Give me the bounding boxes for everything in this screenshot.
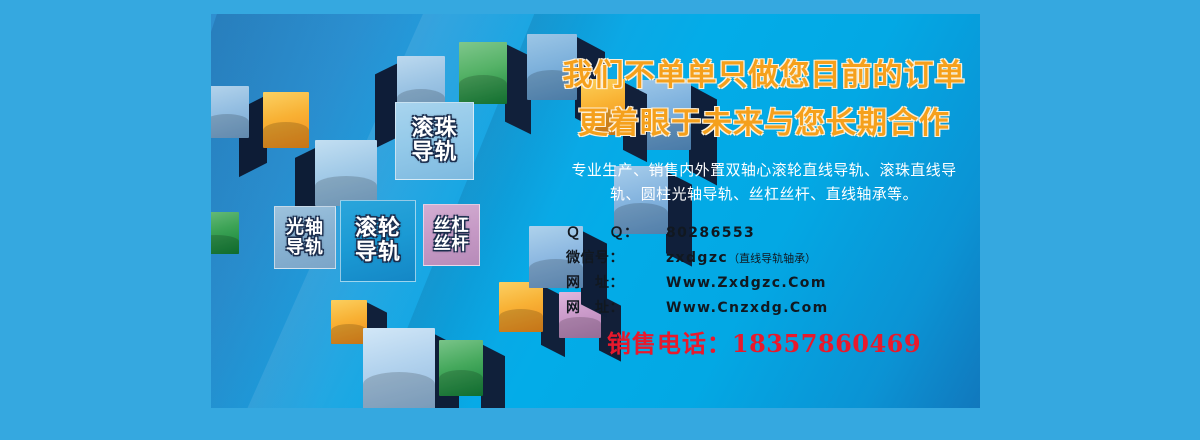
cube-blue-bottom-big [363, 328, 435, 408]
cube-face [459, 42, 507, 104]
cube-blue-center-mid [315, 140, 377, 206]
tile-line-2: 丝杆 [434, 235, 470, 253]
product-tile-gunzhu-daogui[interactable]: 滚珠 导轨 [395, 102, 474, 180]
cube-face [211, 86, 249, 138]
cube-orange-upper-left [263, 92, 309, 148]
cube-face [211, 212, 239, 254]
contact-row-website-2: 网 址： Www.Cnzxdg.Com [548, 297, 980, 317]
contact-value-qq[interactable]: 80286553 [666, 225, 755, 241]
cube-cluster-illustration: 滚珠 导轨 光轴 导轨 滚轮 导轨 丝杠 丝杆 [211, 14, 571, 408]
contact-label-website-1: 网 址： [548, 272, 666, 292]
product-description: 专业生产、销售内外置双轴心滚轮直线导轨、滚珠直线导轨、圆柱光轴导轨、丝杠丝杆、直… [559, 158, 969, 207]
contact-value-wechat[interactable]: zxdgzc [666, 250, 728, 266]
cube-face [499, 282, 543, 332]
contact-label-qq: Ｑ Ｑ： [548, 222, 666, 242]
cube-face [315, 140, 377, 206]
contact-label-wechat: 微信号： [548, 247, 666, 267]
cube-green-top [459, 42, 507, 104]
cube-side [481, 344, 505, 408]
page-root: 滚珠 导轨 光轴 导轨 滚轮 导轨 丝杠 丝杆 我们不单单只做您目前的订单 更着… [0, 0, 1200, 440]
tile-line-1: 滚珠 [411, 117, 457, 141]
sales-phone-line: 销售电话：18357860469 [548, 324, 980, 359]
contact-row-wechat: 微信号： zxdgzc （直线导轨轴承） [548, 247, 980, 267]
cube-green-bottom-right [439, 340, 483, 396]
cube-green-left-bottom [211, 212, 239, 254]
product-tile-gunlun-daogui[interactable]: 滚轮 导轨 [340, 200, 416, 282]
contact-row-qq: Ｑ Ｑ： 80286553 [548, 222, 980, 242]
cube-face [439, 340, 483, 396]
cube-blue-left-mid [211, 86, 249, 138]
tile-line-2: 导轨 [286, 238, 324, 257]
tile-line-2: 导轨 [355, 241, 401, 265]
contact-value-website-2[interactable]: Www.Cnzxdg.Com [666, 300, 829, 316]
cube-face [331, 300, 367, 344]
tile-line-1: 丝杠 [434, 217, 470, 235]
sales-phone-number[interactable]: 18357860469 [732, 329, 921, 358]
product-tile-sigang-sigan[interactable]: 丝杠 丝杆 [423, 204, 480, 266]
banner-copy-column: 我们不单单只做您目前的订单 更着眼于未来与您长期合作 专业生产、销售内外置双轴心… [548, 14, 980, 408]
headline-line-2: 更着眼于未来与您长期合作 [548, 98, 980, 142]
sales-phone-label: 销售电话： [607, 330, 732, 358]
cube-face [363, 328, 435, 408]
promo-banner: 滚珠 导轨 光轴 导轨 滚轮 导轨 丝杠 丝杆 我们不单单只做您目前的订单 更着… [211, 14, 980, 408]
tile-line-1: 滚轮 [355, 217, 401, 241]
contact-info-block: Ｑ Ｑ： 80286553 微信号： zxdgzc （直线导轨轴承） 网 址： … [548, 222, 980, 322]
headline-line-1: 我们不单单只做您目前的订单 [548, 50, 980, 94]
tile-line-1: 光轴 [286, 218, 324, 237]
cube-orange-right-bottom [499, 282, 543, 332]
contact-value-website-1[interactable]: Www.Zxdgzc.Com [666, 275, 827, 291]
cube-face [263, 92, 309, 148]
product-tile-guangzhou-daogui[interactable]: 光轴 导轨 [274, 206, 336, 269]
tile-line-2: 导轨 [411, 141, 457, 165]
contact-row-website-1: 网 址： Www.Zxdgzc.Com [548, 272, 980, 292]
contact-label-website-2: 网 址： [548, 297, 666, 317]
contact-note-wechat: （直线导轨轴承） [728, 250, 816, 266]
cube-orange-bottom-center [331, 300, 367, 344]
